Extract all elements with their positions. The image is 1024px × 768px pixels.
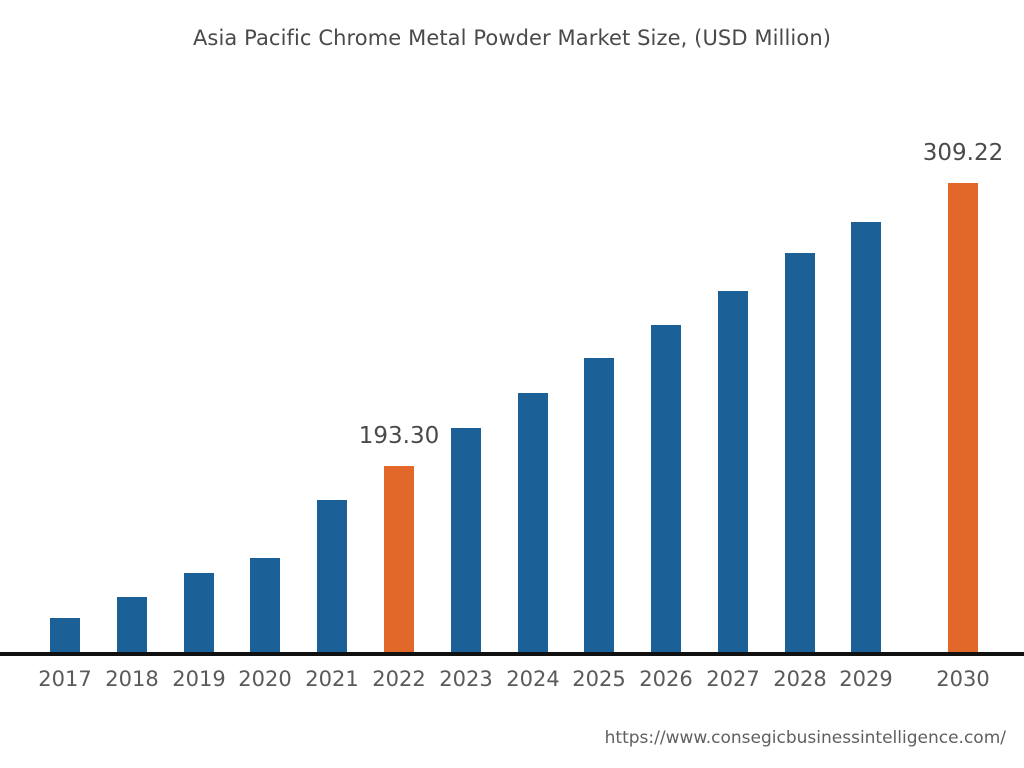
bar-2027[interactable] bbox=[718, 291, 748, 655]
bar-value-label-2022: 193.30 bbox=[329, 423, 469, 449]
bar-2020[interactable] bbox=[250, 558, 280, 655]
bar-2019[interactable] bbox=[184, 573, 214, 655]
x-axis-line bbox=[0, 652, 1024, 656]
bar-2022[interactable] bbox=[384, 466, 414, 655]
x-tick-2029: 2029 bbox=[826, 667, 906, 691]
plot-area: 193.30309.22 bbox=[0, 0, 1024, 655]
bar-2024[interactable] bbox=[518, 393, 548, 655]
bar-2030[interactable] bbox=[948, 183, 978, 655]
bar-2028[interactable] bbox=[785, 253, 815, 655]
bar-2021[interactable] bbox=[317, 500, 347, 655]
bar-value-label-2030: 309.22 bbox=[893, 140, 1024, 166]
bar-2017[interactable] bbox=[50, 618, 80, 655]
bar-2018[interactable] bbox=[117, 597, 147, 655]
bar-2023[interactable] bbox=[451, 428, 481, 655]
bar-2029[interactable] bbox=[851, 222, 881, 655]
bar-2025[interactable] bbox=[584, 358, 614, 655]
x-tick-2030: 2030 bbox=[923, 667, 1003, 691]
source-url-text: https://www.consegicbusinessintelligence… bbox=[605, 728, 1006, 748]
chart-container: Asia Pacific Chrome Metal Powder Market … bbox=[0, 0, 1024, 768]
bar-2026[interactable] bbox=[651, 325, 681, 655]
